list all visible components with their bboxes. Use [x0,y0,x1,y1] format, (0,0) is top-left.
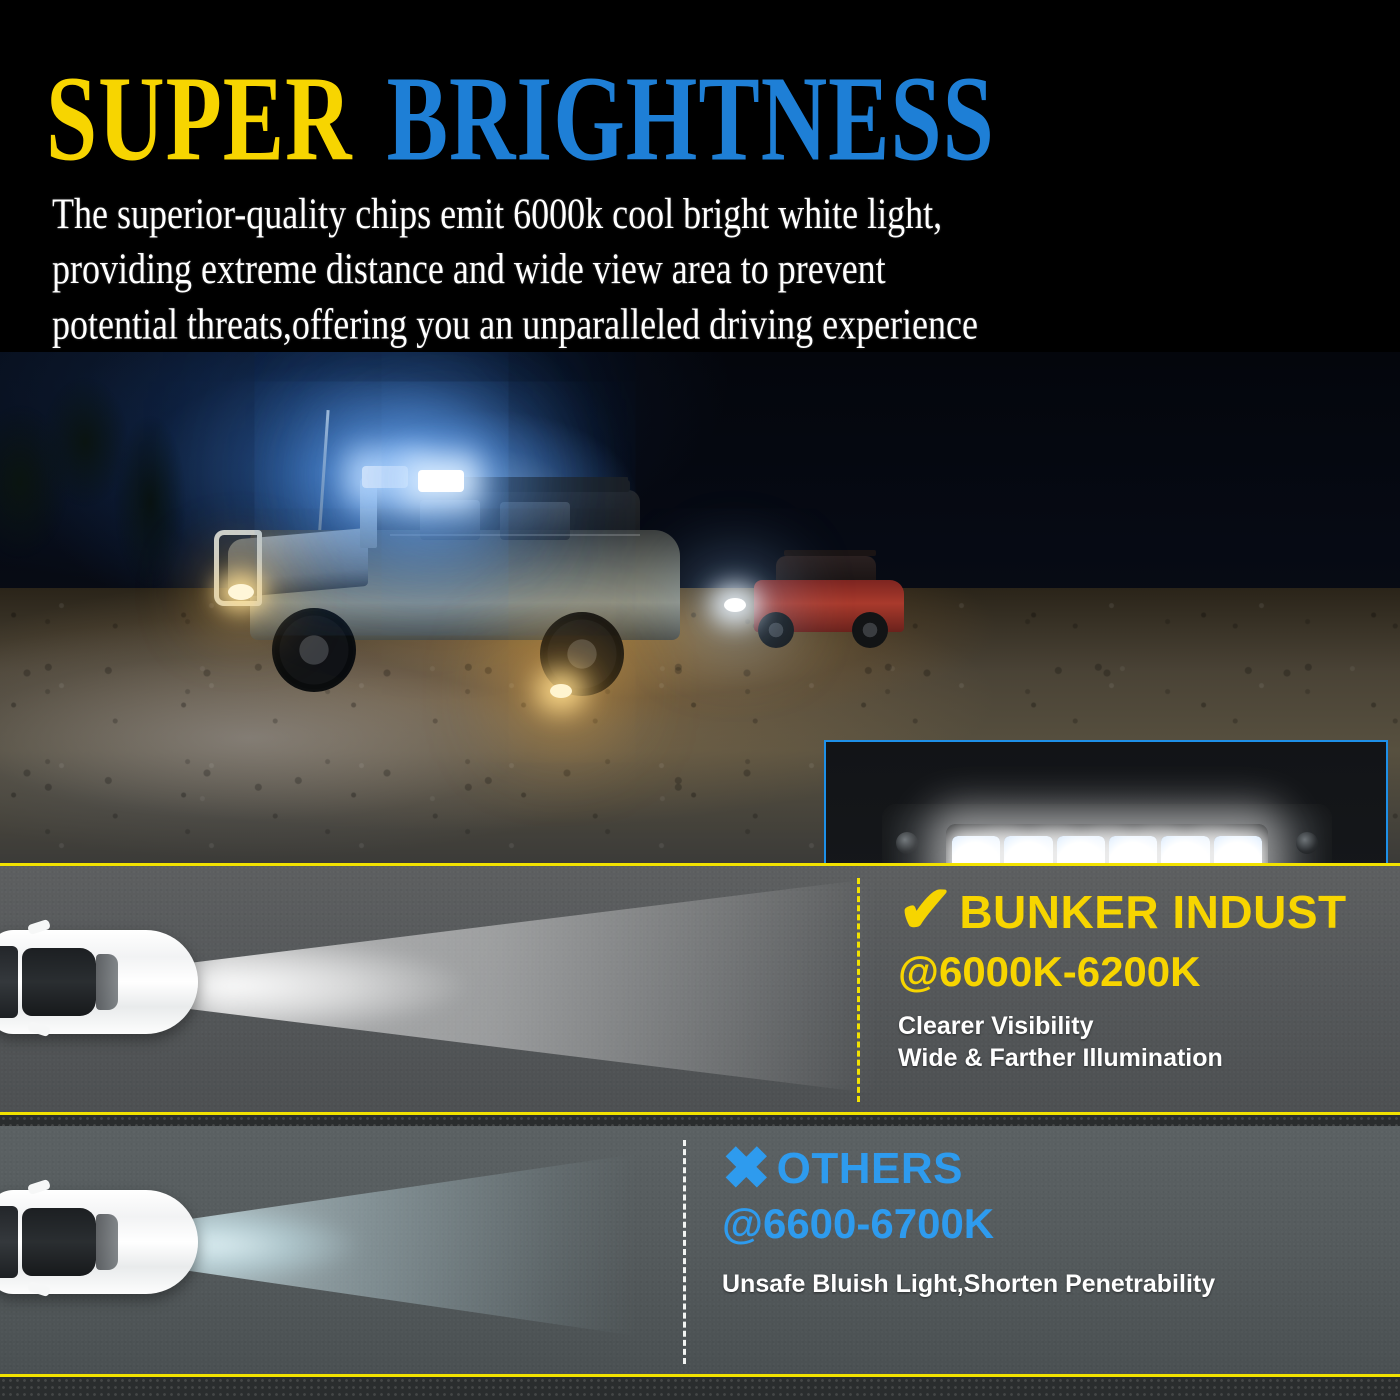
bunker-feature-1: Clearer Visibility [898,1010,1347,1042]
others-text-block: ✖ OTHERS @6600-6700K Unsafe Bluish Light… [722,1140,1215,1300]
header-section: SUPERBRIGHTNESS The superior-quality chi… [0,0,1400,365]
others-feature-1: Unsafe Bluish Light,Shorten Penetrabilit… [722,1268,1215,1300]
car-rear-window [0,946,18,1018]
car-roof [22,1208,96,1276]
subtitle-block: The superior-quality chips emit 6000k co… [52,186,1372,352]
suv-front-wheel [272,608,356,692]
roof-led-light-right [418,470,464,492]
infographic-page: SUPERBRIGHTNESS The superior-quality chi… [0,0,1400,1400]
red-suv-roof-rack [784,550,876,556]
suv-door-line [390,534,640,536]
suv-roof-rack [440,480,630,492]
title-word-brightness: BRIGHTNESS [387,51,995,186]
red-suv-headlight [724,598,746,612]
suv-headlight [228,584,254,600]
suv-rear-wheel [540,612,624,696]
bunker-feature-2: Wide & Farther Illumination [898,1042,1347,1074]
main-suv [210,472,770,732]
page-title: SUPERBRIGHTNESS [46,58,995,179]
comparison-row-others: ✖ OTHERS @6600-6700K Unsafe Bluish Light… [0,1126,1400,1374]
pod-lens [946,824,1268,868]
others-kelvin-label: @6600-6700K [722,1200,1215,1248]
bunker-brand-line: ✔ BUNKER INDUST [898,882,1347,942]
title-word-super: SUPER [46,51,353,186]
night-offroad-photo [0,352,1400,868]
x-icon: ✖ [722,1140,771,1198]
red-suv-front-wheel [758,612,794,648]
car-illustration-top-view [0,912,208,1052]
led-pod-inset-photo [824,740,1388,868]
subtitle-line-2: providing extreme distance and wide view… [52,241,1372,296]
comparison-row-bunker: ✔ BUNKER INDUST @6000K-6200K Clearer Vis… [0,866,1400,1112]
check-icon: ✔ [898,876,953,942]
car-windshield [96,954,118,1010]
divider-bottom-band [0,1374,1400,1400]
car-rear-window [0,1206,18,1278]
car-windshield [96,1214,118,1270]
red-suv-rear-wheel [852,612,888,648]
secondary-red-suv [740,550,920,660]
roof-led-light-left [362,466,408,488]
suv-rock-light [550,684,572,698]
others-brand-label: OTHERS [777,1144,963,1194]
vertical-divider-white [683,1140,686,1364]
subtitle-line-3: potential threats,offering you an unpara… [52,296,1372,351]
subtitle-line-1: The superior-quality chips emit 6000k co… [52,186,1372,241]
bunker-kelvin-label: @6000K-6200K [898,948,1347,996]
car-illustration-top-view [0,1172,208,1312]
led-light-pod [882,804,1332,868]
bunker-features: Clearer Visibility Wide & Farther Illumi… [898,1010,1347,1074]
bunker-text-block: ✔ BUNKER INDUST @6000K-6200K Clearer Vis… [898,882,1347,1074]
vertical-divider-yellow [857,878,860,1102]
bunker-brand-label: BUNKER INDUST [959,885,1346,939]
others-brand-line: ✖ OTHERS [722,1140,1215,1198]
tree-silhouettes [0,362,220,612]
car-roof [22,948,96,1016]
others-features: Unsafe Bluish Light,Shorten Penetrabilit… [722,1268,1215,1300]
